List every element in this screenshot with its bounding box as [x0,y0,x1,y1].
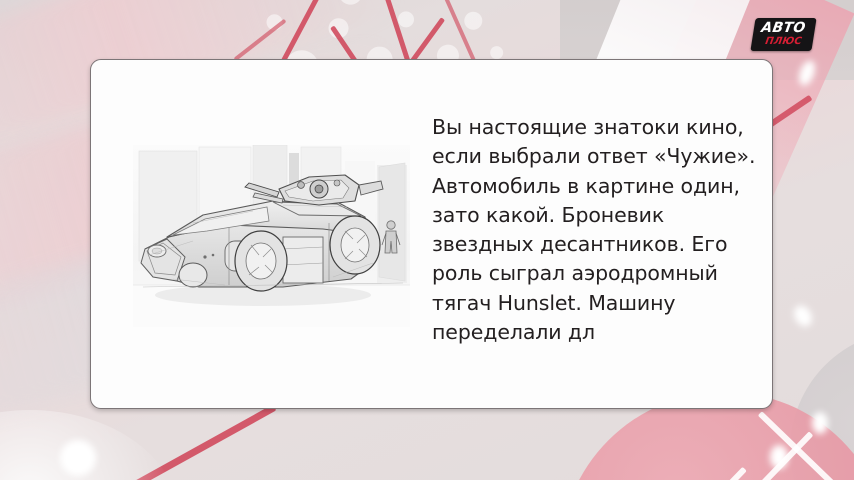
content-card: Вы настоящие знатоки кино, если выбрали … [90,59,773,409]
answer-paragraph: Вы настоящие знатоки кино, если выбрали … [432,113,757,347]
channel-logo-line2-text: ПЛЮС [764,37,802,47]
channel-logo-line2: ПЛЮС [752,35,815,49]
background-glow-dot-2 [812,412,828,434]
background-glow-dot-1 [770,445,788,469]
background-glow-dot-5 [60,440,96,476]
tv-broadcast-frame: Вы настоящие знатоки кино, если выбрали … [0,0,854,480]
answer-text-block: Вы настоящие знатоки кино, если выбрали … [432,113,757,347]
channel-logo: АВТО ПЛЮС [753,18,814,51]
channel-logo-line1: АВТО [752,19,816,36]
channel-logo-line1-text: АВТО [760,21,806,35]
apc-sketch-thumbnail [133,145,410,327]
